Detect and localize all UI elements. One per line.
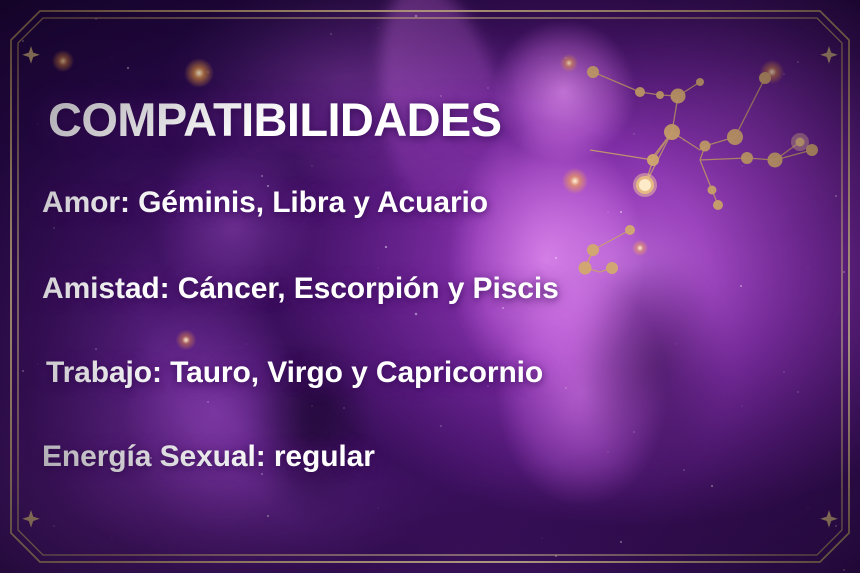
vignette-overlay [0, 0, 860, 573]
compatibilities-card: COMPATIBILIDADES Amor: Géminis, Libra y … [0, 0, 860, 573]
